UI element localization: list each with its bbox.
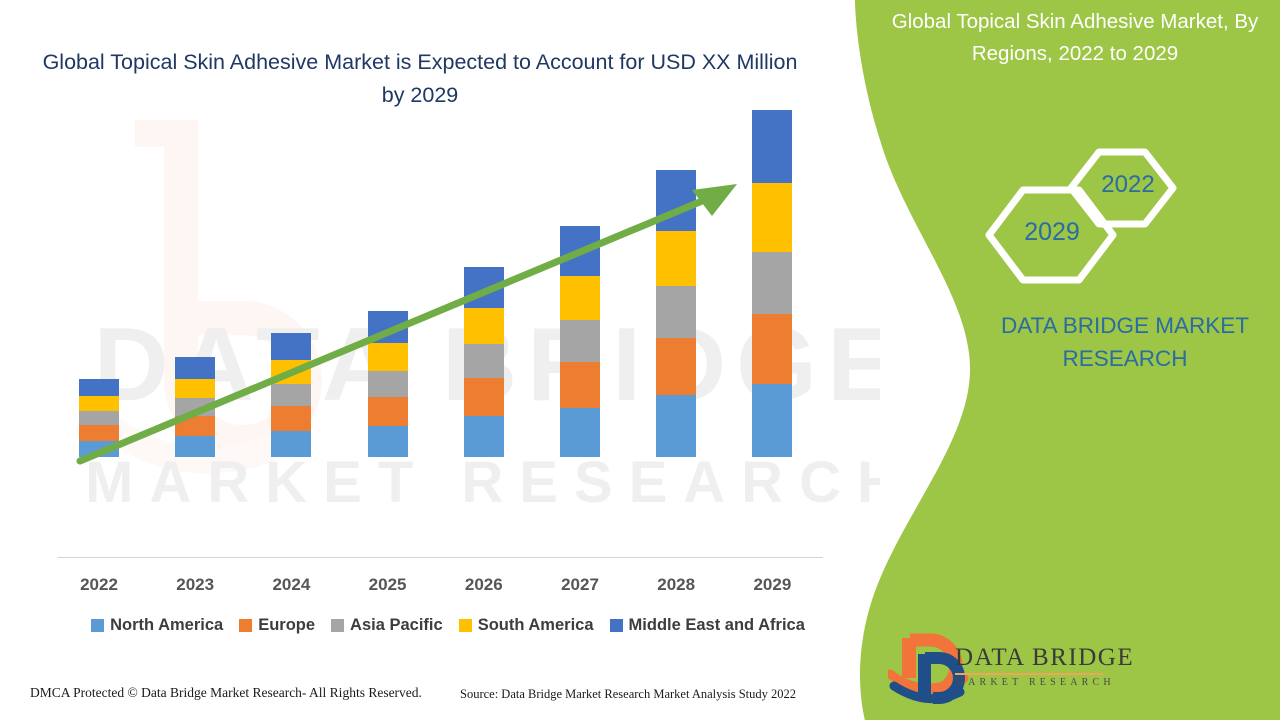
bar-segment <box>656 170 696 231</box>
logo-divider <box>955 673 1103 675</box>
hexagon-pair-icon <box>975 140 1205 295</box>
bar-segment <box>560 362 600 408</box>
legend-item[interactable]: Asia Pacific <box>331 616 443 635</box>
legend-swatch-icon <box>239 619 252 632</box>
legend-swatch-icon <box>91 619 104 632</box>
hex-label-2022: 2022 <box>1093 171 1163 199</box>
legend-item[interactable]: Middle East and Africa <box>610 616 805 635</box>
source-text: Source: Data Bridge Market Research Mark… <box>460 687 796 702</box>
bar-segment <box>752 183 792 252</box>
bar-segment <box>464 308 504 344</box>
legend-label: North America <box>110 616 223 635</box>
bar-2028[interactable] <box>656 170 696 457</box>
bar-2023[interactable] <box>175 357 215 457</box>
bar-2026[interactable] <box>464 267 504 457</box>
infographic-page: DATA BRIDGE MARKET RESEARCH Global Topic… <box>0 0 1280 720</box>
bar-segment <box>752 110 792 183</box>
bar-segment <box>560 276 600 320</box>
bar-segment <box>271 431 311 457</box>
legend-item[interactable]: South America <box>459 616 594 635</box>
bar-segment <box>752 384 792 457</box>
x-axis-label-2029: 2029 <box>732 575 812 595</box>
bar-2025[interactable] <box>368 311 408 457</box>
bar-segment <box>368 311 408 343</box>
bar-segment <box>175 357 215 379</box>
bar-2029[interactable] <box>752 110 792 457</box>
bar-segment <box>271 360 311 384</box>
legend-label: Europe <box>258 616 315 635</box>
chart-legend: North AmericaEuropeAsia PacificSouth Ame… <box>58 616 838 635</box>
bar-segment <box>368 371 408 397</box>
x-axis-label-2025: 2025 <box>348 575 428 595</box>
bar-segment <box>175 379 215 398</box>
brand-name: DATA BRIDGE MARKET RESEARCH <box>1000 310 1250 375</box>
legend-label: South America <box>478 616 594 635</box>
bar-segment <box>79 441 119 457</box>
x-axis-label-2022: 2022 <box>59 575 139 595</box>
x-axis-line <box>58 557 823 558</box>
copyright-text: DMCA Protected © Data Bridge Market Rese… <box>30 685 422 701</box>
chart-pane: DATA BRIDGE MARKET RESEARCH Global Topic… <box>0 0 880 720</box>
brand-line-1: DATA BRIDGE MARKET <box>1001 313 1249 338</box>
logo-name: DATA BRIDGE <box>955 645 1134 671</box>
bar-segment <box>560 226 600 276</box>
bar-segment <box>464 378 504 416</box>
hex-label-2029: 2029 <box>1016 218 1088 247</box>
bar-segment <box>464 344 504 378</box>
plot-area: 20222023202420252026202720282029 <box>0 0 880 620</box>
bar-segment <box>271 406 311 431</box>
legend-label: Middle East and Africa <box>629 616 805 635</box>
logo-tagline: MARKET RESEARCH <box>955 677 1134 688</box>
x-axis-label-2027: 2027 <box>540 575 620 595</box>
bar-segment <box>79 425 119 441</box>
bar-segment <box>175 436 215 457</box>
bar-segment <box>560 408 600 457</box>
bar-segment <box>752 314 792 384</box>
logo-wordmark: DATA BRIDGE MARKET RESEARCH <box>955 645 1134 688</box>
x-axis-label-2023: 2023 <box>155 575 235 595</box>
bar-segment <box>79 379 119 396</box>
trend-arrow-icon <box>0 0 880 620</box>
bar-segment <box>175 416 215 436</box>
bar-2027[interactable] <box>560 226 600 457</box>
bar-2022[interactable] <box>79 379 119 457</box>
bar-segment <box>560 320 600 362</box>
bar-segment <box>79 396 119 411</box>
bar-segment <box>271 333 311 360</box>
legend-swatch-icon <box>331 619 344 632</box>
bar-segment <box>656 338 696 395</box>
bar-segment <box>752 252 792 314</box>
panel-title: Global Topical Skin Adhesive Market, By … <box>870 6 1280 70</box>
bar-segment <box>271 384 311 406</box>
legend-item[interactable]: North America <box>91 616 223 635</box>
bar-segment <box>656 395 696 457</box>
bar-segment <box>368 397 408 426</box>
bar-segment <box>175 398 215 416</box>
x-axis-label-2024: 2024 <box>251 575 331 595</box>
bar-segment <box>656 231 696 286</box>
bar-segment <box>79 411 119 425</box>
legend-item[interactable]: Europe <box>239 616 315 635</box>
bar-segment <box>656 286 696 338</box>
bar-segment <box>368 426 408 457</box>
legend-label: Asia Pacific <box>350 616 443 635</box>
legend-swatch-icon <box>459 619 472 632</box>
bar-segment <box>464 416 504 457</box>
x-axis-label-2026: 2026 <box>444 575 524 595</box>
brand-line-2: RESEARCH <box>1062 346 1187 371</box>
legend-swatch-icon <box>610 619 623 632</box>
bar-2024[interactable] <box>271 333 311 457</box>
x-axis-label-2028: 2028 <box>636 575 716 595</box>
bar-segment <box>368 343 408 371</box>
bar-segment <box>464 267 504 308</box>
